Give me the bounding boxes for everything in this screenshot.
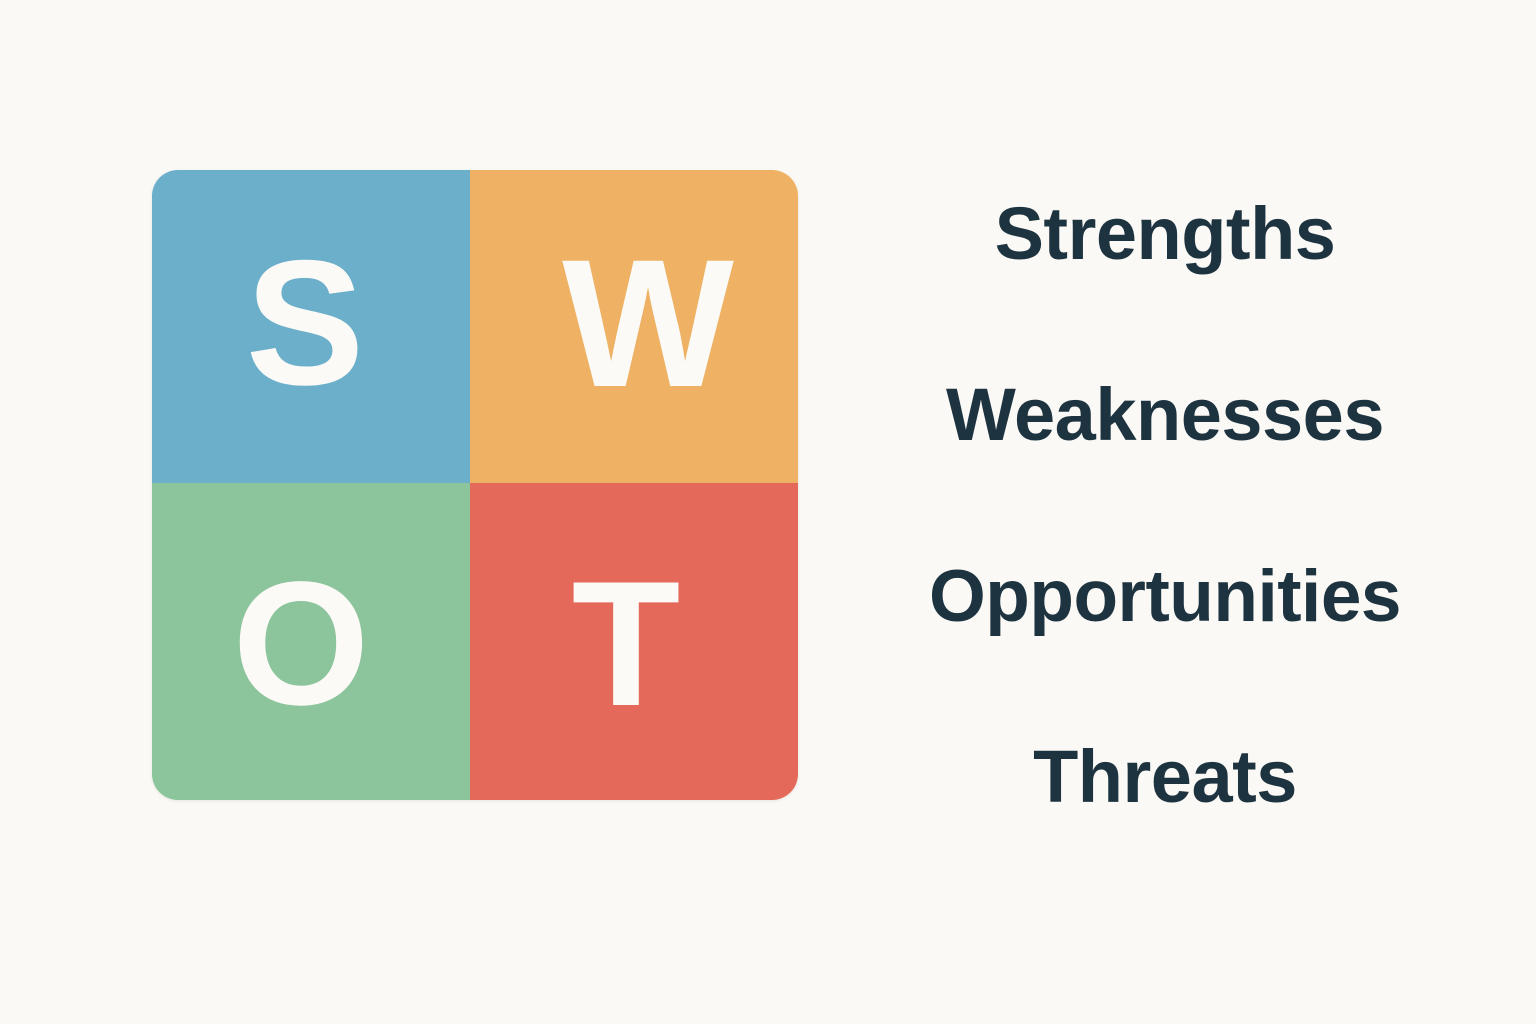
swot-legend: Strengths Weaknesses Opportunities Threa… (840, 196, 1490, 816)
swot-diagram-canvas: S W O T Strengths Weaknesses Opportuniti… (0, 0, 1536, 1024)
legend-item-strengths: Strengths (995, 196, 1336, 273)
quadrant-letter-o: O (233, 556, 370, 732)
quadrant-letter-t: T (572, 555, 681, 733)
quadrant-letter-s: S (246, 234, 365, 412)
quadrant-letter-w: W (562, 232, 734, 414)
legend-item-threats: Threats (1033, 739, 1297, 816)
swot-matrix: S W O T (152, 170, 798, 800)
legend-item-opportunities: Opportunities (929, 559, 1401, 635)
legend-item-weaknesses: Weaknesses (946, 377, 1384, 454)
swot-quadrant-opportunities[interactable]: O (152, 483, 470, 800)
swot-quadrant-strengths[interactable]: S (152, 170, 470, 483)
swot-quadrant-weaknesses[interactable]: W (470, 170, 798, 483)
swot-quadrant-threats[interactable]: T (470, 483, 798, 800)
